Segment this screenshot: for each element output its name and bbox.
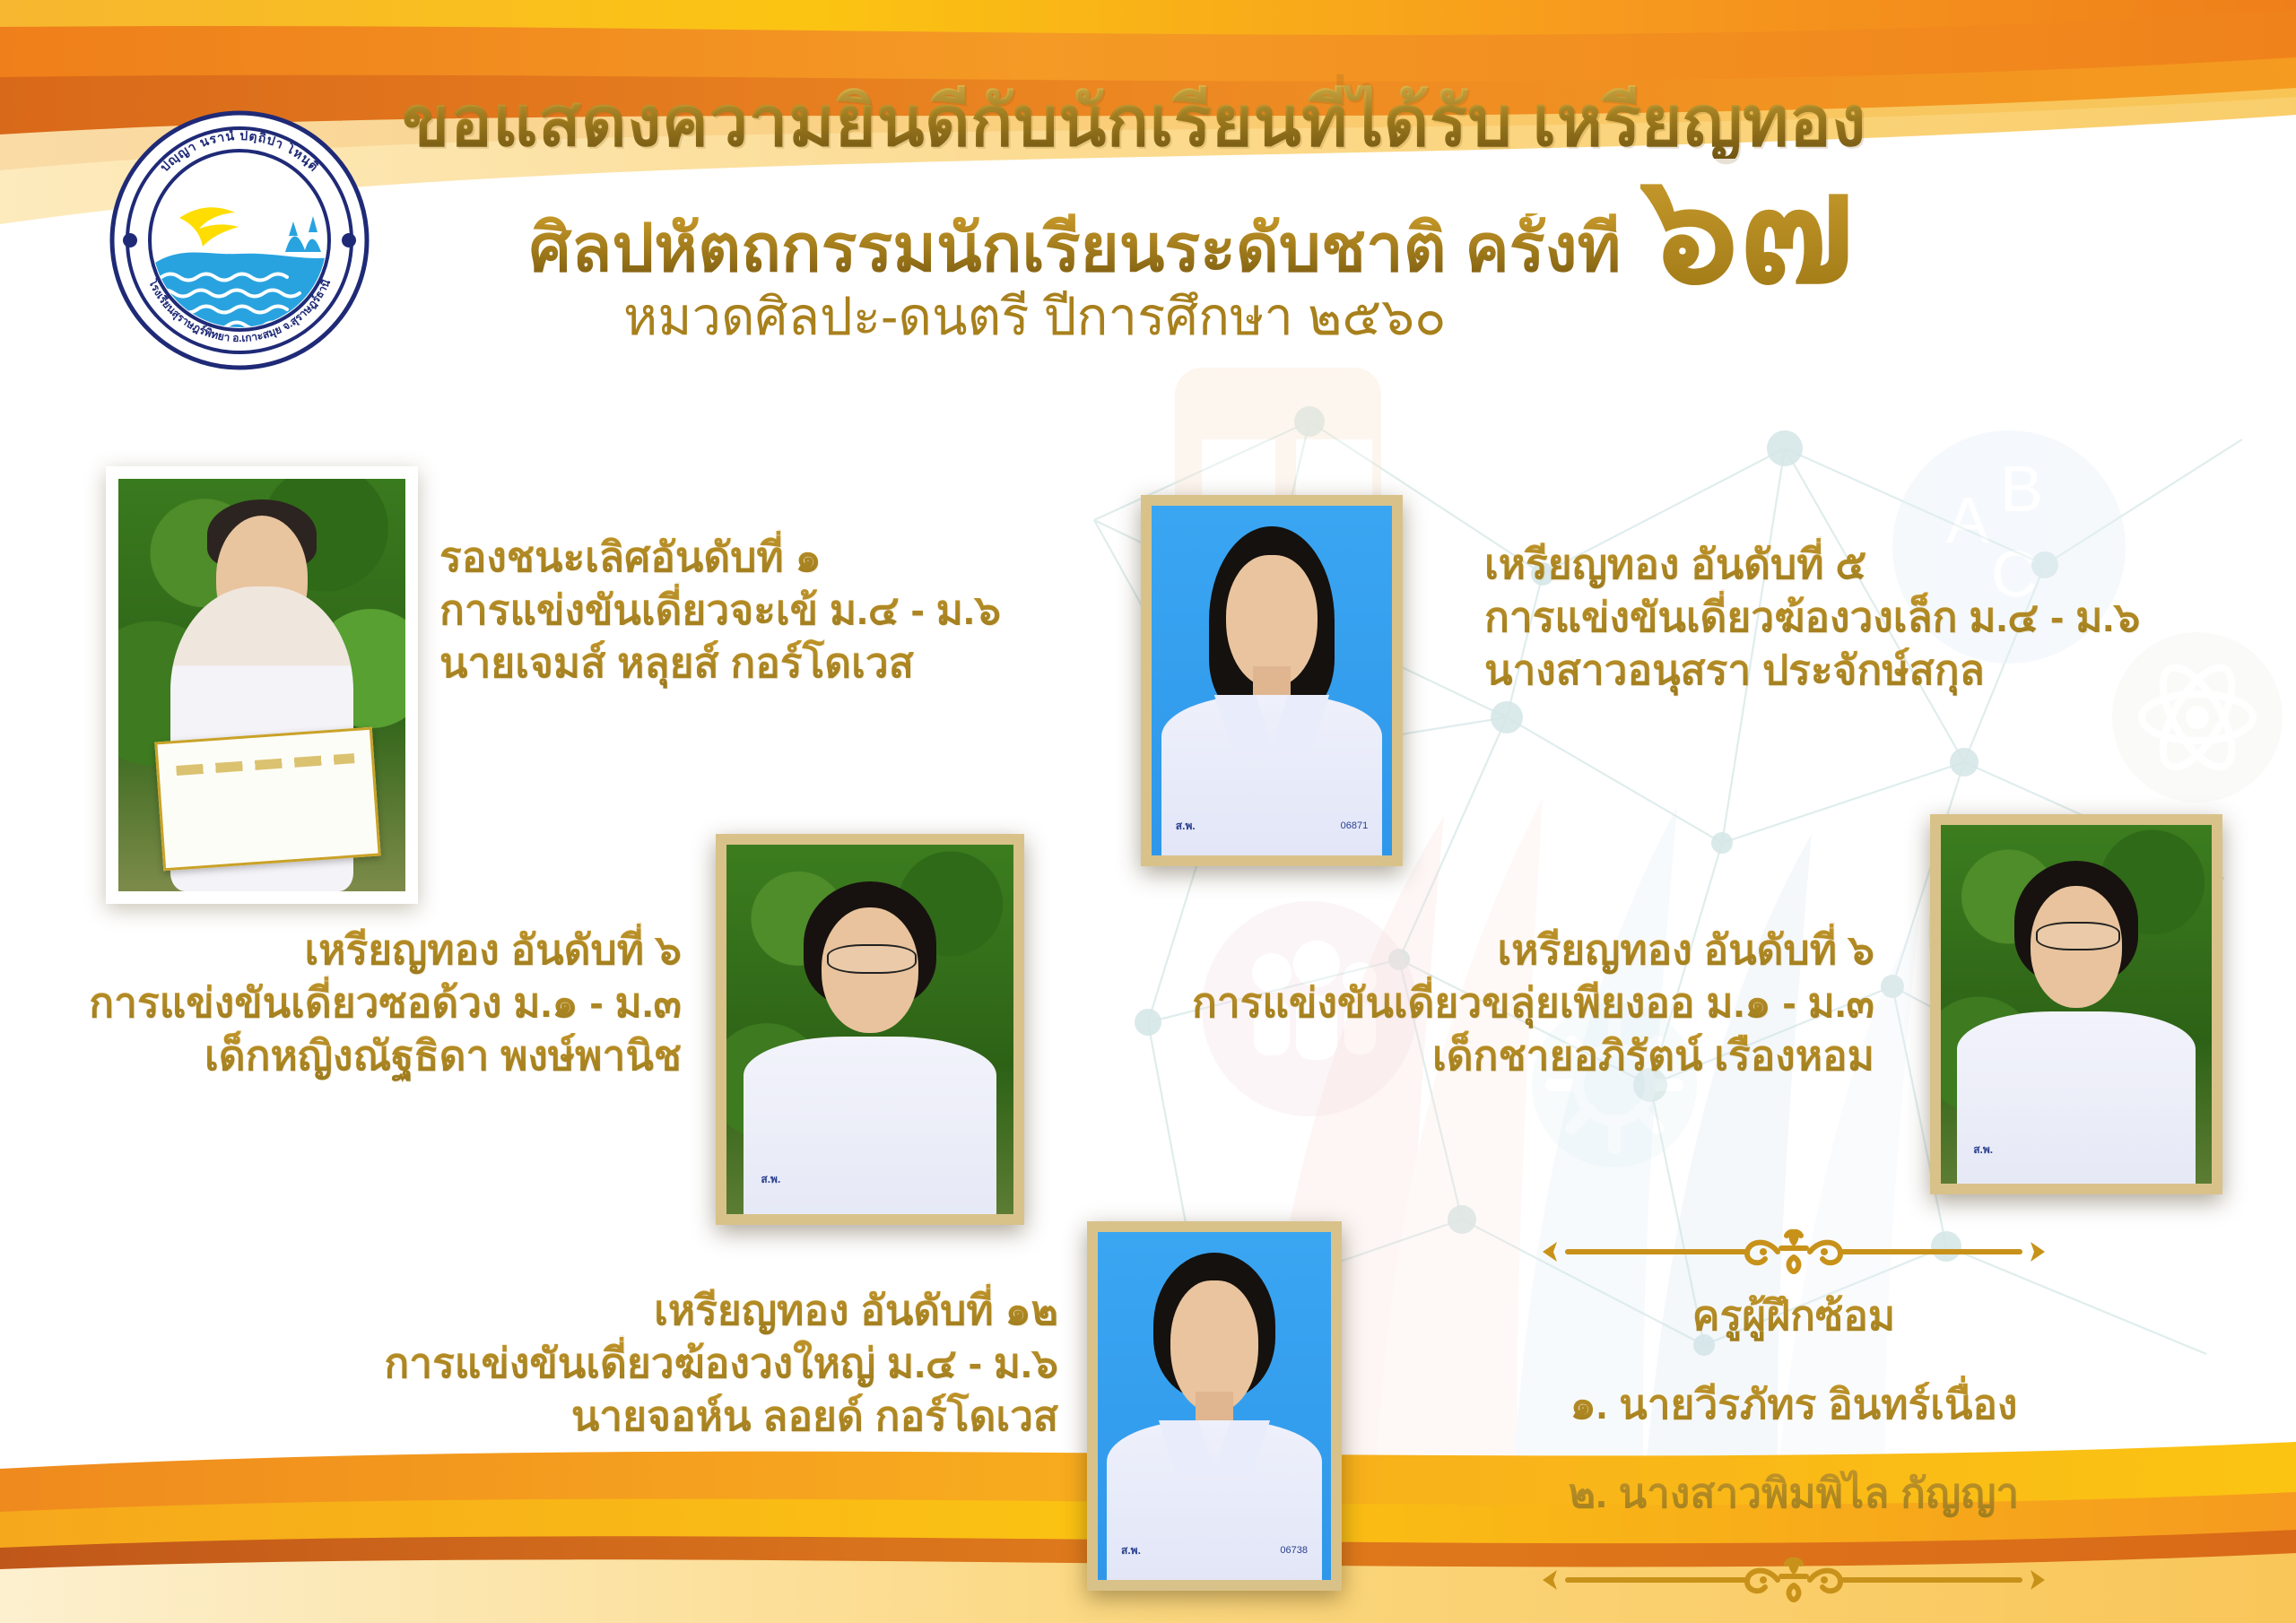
ornament-divider-top-icon <box>1516 1228 2072 1275</box>
entry-block-2: เหรียญทอง อันดับที่ ๕ การแข่งขันเดี่ยวฆ้… <box>1484 538 2274 697</box>
teacher-panel: ครูผู้ฝึกซ้อม ๑. นายวีรภัทร อินทร์เนื่อง… <box>1507 1228 2081 1608</box>
headline-congratulations: ขอแสดงความยินดีกับนักเรียนที่ได้รับ เหรี… <box>386 85 2260 159</box>
entry-3-student: เด็กหญิงณัฐธิดา พงษ์พานิช <box>36 1029 682 1082</box>
teacher-item-2: ๒. นางสาวพิมพิไล กัญญา <box>1507 1461 2081 1526</box>
edition-number: ๖๗ <box>1640 166 1855 292</box>
uniform-badge-5: ส.พ. <box>1121 1542 1141 1559</box>
student-photo-2: ส.พ. 06871 <box>1141 495 1403 866</box>
teacher-item-1: ๑. นายวีรภัทร อินทร์เนื่อง <box>1507 1372 2081 1437</box>
entry-2-award: เหรียญทอง อันดับที่ ๕ <box>1484 538 2274 591</box>
entry-3-competition: การแข่งขันเดี่ยวซอด้วง ม.๑ - ม.๓ <box>36 976 682 1029</box>
entry-1-competition: การแข่งขันเดี่ยวจะเข้ ม.๔ - ม.๖ <box>439 584 1103 637</box>
student-photo-5: ส.พ. 06738 <box>1087 1221 1342 1591</box>
entry-5-student: นายจอห์น ลอยด์ กอร์โดเวส <box>287 1390 1058 1443</box>
entry-4-student: เด็กชายอภิรัตน์ เรืองหอม <box>1103 1029 1874 1082</box>
entry-block-1: รองชนะเลิศอันดับที่ ๑ การแข่งขันเดี่ยวจะ… <box>439 531 1103 690</box>
entry-block-3: เหรียญทอง อันดับที่ ๖ การแข่งขันเดี่ยวซอ… <box>36 924 682 1082</box>
headline-event-row: ศิลปหัตถกรรมนักเรียนระดับชาติ ครั้งที่ ๖… <box>386 166 2260 283</box>
entry-5-competition: การแข่งขันเดี่ยวฆ้องวงใหญ่ ม.๔ - ม.๖ <box>287 1337 1058 1390</box>
uniform-code-2: 06871 <box>1341 820 1369 831</box>
entry-block-5: เหรียญทอง อันดับที่ ๑๒ การแข่งขันเดี่ยวฆ… <box>287 1284 1058 1443</box>
headline-category-year: หมวดศิลปะ-ดนตรี ปีการศึกษา ๒๕๖๐ <box>386 289 2260 346</box>
entry-1-award: รองชนะเลิศอันดับที่ ๑ <box>439 531 1103 584</box>
entry-4-competition: การแข่งขันเดี่ยวขลุ่ยเพียงออ ม.๑ - ม.๓ <box>1103 976 1874 1029</box>
student-photo-3: ส.พ. <box>716 834 1024 1225</box>
teacher-section-title: ครูผู้ฝึกซ้อม <box>1507 1283 2081 1349</box>
poster-canvas: A B C <box>0 0 2296 1623</box>
uniform-badge-2: ส.พ. <box>1176 818 1196 835</box>
svg-text:B: B <box>2000 454 2043 525</box>
uniform-code-5: 06738 <box>1280 1545 1308 1556</box>
ornament-divider-bottom-icon <box>1516 1557 2072 1603</box>
entry-4-award: เหรียญทอง อันดับที่ ๖ <box>1103 924 1874 976</box>
uniform-badge-3: ส.พ. <box>761 1171 780 1188</box>
school-logo-icon: ปญฺญา นรานํ ปตฺถิปา โหนฺติ โรงเรียนสุราษ… <box>109 110 370 370</box>
entry-2-competition: การแข่งขันเดี่ยวฆ้องวงเล็ก ม.๔ - ม.๖ <box>1484 591 2274 644</box>
student-photo-4: ส.พ. <box>1930 814 2222 1194</box>
headline-event: ศิลปหัตถกรรมนักเรียนระดับชาติ ครั้งที่ <box>529 213 1621 283</box>
entry-1-student: นายเจมส์ หลุยส์ กอร์โดเวส <box>439 637 1103 690</box>
title-block: ขอแสดงความยินดีกับนักเรียนที่ได้รับ เหรี… <box>386 85 2260 346</box>
student-photo-1 <box>106 466 418 904</box>
poster-header: ปญฺญา นรานํ ปตฺถิปา โหนฺติ โรงเรียนสุราษ… <box>0 85 2296 426</box>
uniform-badge-4: ส.พ. <box>1973 1141 1993 1159</box>
entry-5-award: เหรียญทอง อันดับที่ ๑๒ <box>287 1284 1058 1337</box>
entry-2-student: นางสาวอนุสรา ประจักษ์สกุล <box>1484 644 2274 697</box>
entry-3-award: เหรียญทอง อันดับที่ ๖ <box>36 924 682 976</box>
entry-block-4: เหรียญทอง อันดับที่ ๖ การแข่งขันเดี่ยวขล… <box>1103 924 1874 1082</box>
